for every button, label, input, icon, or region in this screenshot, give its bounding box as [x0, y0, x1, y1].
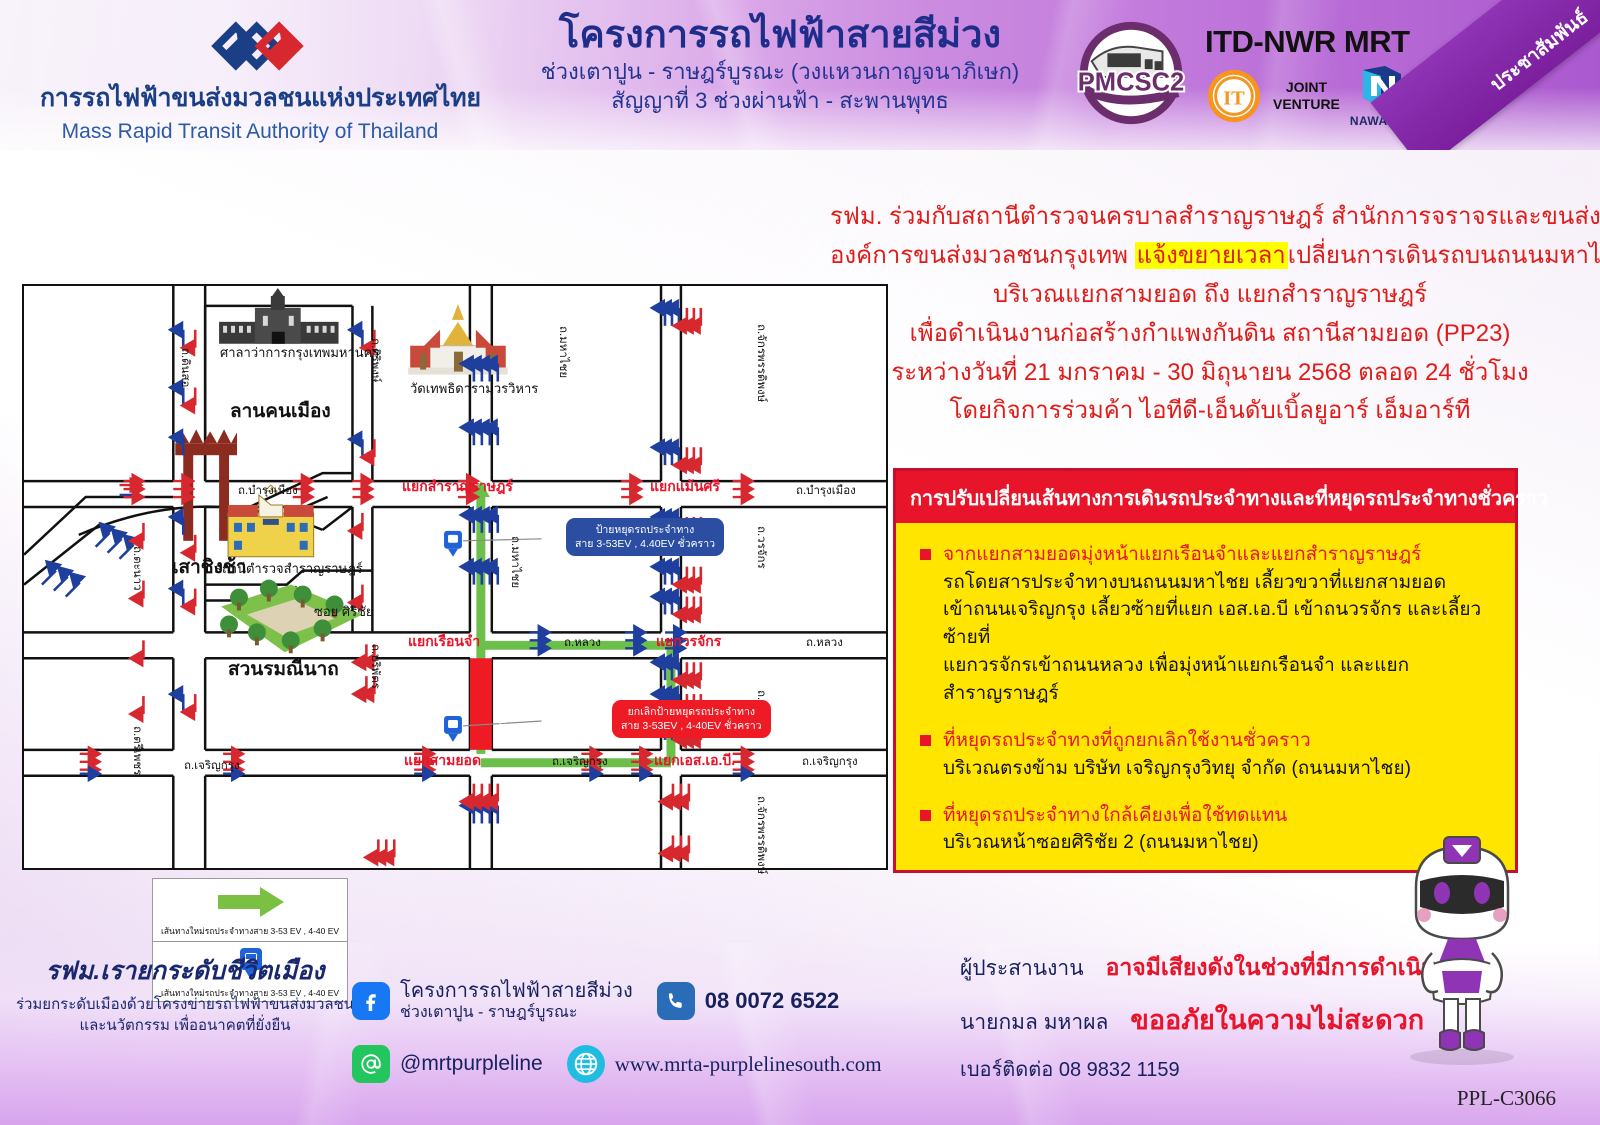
mrta-name-english: Mass Rapid Transit Authority of Thailand [40, 120, 460, 144]
notice-item-sub: บริเวณหน้าซอยศิริชัย 2 (ถนนมหาไชย) [943, 829, 1287, 857]
map-road-mahachai-closed: ถ.มหาไชย [494, 676, 512, 728]
map-junction-worachak: แยกวรจักร [656, 631, 721, 653]
mascot-icon [1396, 835, 1528, 1065]
line-id: @mrtpurpleline [400, 1052, 543, 1076]
square-bullet-icon [920, 735, 931, 746]
map-road-worachak: ถ.วรจักร [752, 526, 770, 569]
facebook-page-sub: ช่วงเตาปูน - ราษฎร์บูรณะ [400, 1003, 633, 1023]
map-junction-samyot: แยกสามยอด [404, 750, 481, 772]
bus-stop-pin-icon [444, 531, 462, 557]
notice-item-head: ที่หยุดรถประจำทางที่ถูกยกเลิกใช้งานชั่วค… [943, 727, 1411, 755]
map-road-bamrungmueang: ถ.บำรุงเมือง [796, 482, 856, 500]
map-road-bamrungmueang: ถ.บำรุงเมือง [238, 482, 298, 500]
notice-item: ที่หยุดรถประจำทางที่ถูกยกเลิกใช้งานชั่วค… [920, 727, 1495, 782]
slogan-main: รฟม.เรายกระดับชีวิตเมือง [10, 951, 360, 991]
map-road-charoenkrung: ถ.เจริญกรุง [184, 757, 240, 775]
announcement-line-3: บริเวณแยกสามยอด ถึง แยกสำราญราษฎร์ [830, 276, 1590, 315]
notice-item-head: ที่หยุดรถประจำทางใกล้เคียงเพื่อใช้ทดแทน [943, 802, 1287, 830]
line-web-contact-row[interactable]: @mrtpurpleline www.mrta-purplelinesouth.… [352, 1045, 972, 1083]
page-title: โครงการรถไฟฟ้าสายสีม่วง [460, 14, 1100, 57]
notice-item-head: จากแยกสามยอดมุ่งหน้าแยกเรือนจำและแยกสำรา… [943, 541, 1495, 569]
title-subtitle-1: ช่วงเตาปูน - ราษฎร์บูรณะ (วงแหวนกาญจนาภิ… [460, 57, 1100, 87]
notice-item-sub: แยกวรจักรเข้าถนนหลวง เพื่อมุ่งหน้าแยกเรื… [943, 652, 1495, 708]
notice-item-sub: บริเวณตรงข้าม บริษัท เจริญกรุงวิทยุ จำกั… [943, 755, 1411, 783]
announcement-line-2: องค์การขนส่งมวลชนกรุงเทพ แจ้งขยายเวลาเปล… [830, 237, 1590, 276]
website-url: www.mrta-purplelinesouth.com [615, 1052, 882, 1077]
facebook-icon[interactable] [352, 982, 390, 1020]
slogan-sub-line-2: และนวัตกรรม เพื่ออนาคตที่ยั่งยืน [10, 1015, 360, 1037]
traffic-map: ศาลาว่าการกรุงเทพมหานคร ลานคนเมือง วัดเท… [22, 284, 888, 870]
square-bullet-icon [920, 549, 931, 560]
map-road-charoenkrung: ถ.เจริญกรุง [802, 753, 858, 771]
itd-logo-icon: IT [1205, 67, 1263, 125]
map-road-chakkraphatdiphong: ถ.จักรพรรดิพงษ์ [752, 796, 770, 874]
phone-number: 08 0072 6522 [705, 988, 840, 1014]
callout-line-2: สาย 3-53EV , 4.40EV ชั่วคราว [575, 537, 715, 551]
announcement-line-5: ระหว่างวันที่ 21 มกราคม - 30 มิถุนายน 25… [830, 354, 1590, 393]
map-label-lan-khon-mueang: ลานคนเมือง [230, 396, 331, 426]
coordinator-label: ผู้ประสานงาน [960, 952, 1084, 985]
jv-word-joint: JOINT [1273, 79, 1340, 97]
slogan-block: รฟม.เรายกระดับชีวิตเมือง ร่วมยกระดับเมือ… [10, 951, 360, 1038]
callout-line-2: สาย 3-53EV , 4-40EV ชั่วคราว [621, 719, 762, 733]
announcement-line-4: เพื่อดำเนินงานก่อสร้างกำแพงกันดิน สถานีส… [830, 315, 1590, 354]
pr-ribbon: ประชาสัมพันธ์ [1371, 0, 1600, 150]
square-bullet-icon [920, 810, 931, 821]
title-subtitle-2: สัญญาที่ 3 ช่วงผ่านฟ้า - สะพานพุทธ [460, 86, 1100, 116]
map-road-mahachai: ถ.มหาไชย [506, 536, 524, 588]
map-label-park: สวนรมณีนาถ [228, 654, 339, 684]
announcement-highlight: แจ้งขยายเวลา [1135, 242, 1288, 269]
announcement-text: รฟม. ร่วมกับสถานีตำรวจนครบาลสำราญราษฎร์ … [830, 198, 1590, 431]
phone-icon[interactable] [657, 982, 695, 1020]
at-icon[interactable] [352, 1045, 390, 1083]
facebook-contact-row[interactable]: โครงการรถไฟฟ้าสายสีม่วง ช่วงเตาปูน - ราษ… [352, 979, 972, 1023]
apology-text: ขออภัยในความไม่สะดวก [1130, 998, 1424, 1041]
legend-label-route: เส้นทางใหม่รถประจำทางสาย 3-53 EV , 4-40 … [153, 924, 347, 938]
map-road-mahachai: ถ.มหาไชย [554, 326, 572, 378]
map-road-tri-phet: ถ.ตรีเพชร [128, 726, 146, 775]
map-label-city-hall: ศาลาว่าการกรุงเทพมหานคร [220, 342, 379, 363]
callout-cancelled-bus-stop: ยกเลิกป้ายหยุดรถประจำทาง สาย 3-53EV , 4-… [612, 700, 771, 738]
jv-title: ITD-NWR MRT [1205, 24, 1465, 60]
notice-item: จากแยกสามยอดมุ่งหน้าแยกเรือนจำและแยกสำรา… [920, 541, 1495, 708]
facebook-page-name: โครงการรถไฟฟ้าสายสีม่วง [400, 979, 633, 1003]
map-road-dinso: ถ.ดินสอ [176, 348, 194, 387]
green-arrow-icon [216, 885, 286, 919]
header-band: การรถไฟฟ้าขนส่งมวลชนแห่งประเทศไทย Mass R… [0, 0, 1600, 150]
mrta-logo-block: การรถไฟฟ้าขนส่งมวลชนแห่งประเทศไทย Mass R… [40, 20, 460, 144]
map-road-boriphat: ถ.บริพัตร [366, 644, 384, 689]
slogan-sub: ร่วมยกระดับเมืองด้วยโครงข่ายรถไฟฟ้าขนส่ง… [10, 994, 360, 1038]
title-block: โครงการรถไฟฟ้าสายสีม่วง ช่วงเตาปูน - ราษ… [460, 14, 1100, 116]
callout-temp-bus-stop: ป้ายหยุดรถประจำทาง สาย 3-53EV , 4.40EV ช… [566, 518, 724, 556]
map-label-soi-sirichai: ซอย ศิริชัย [314, 601, 374, 622]
globe-icon[interactable] [567, 1045, 605, 1083]
notice-box: การปรับเปลี่ยนเส้นทางการเดินรถประจำทางแล… [893, 468, 1518, 873]
announcement-line-1: รฟม. ร่วมกับสถานีตำรวจนครบาลสำราญราษฎร์ … [830, 198, 1590, 237]
mrta-name-thai: การรถไฟฟ้าขนส่งมวลชนแห่งประเทศไทย [40, 78, 460, 118]
map-junction-ruenjam: แยกเรือนจำ [408, 631, 480, 653]
notice-header: การปรับเปลี่ยนเส้นทางการเดินรถประจำทางแล… [896, 471, 1515, 523]
city-hall-icon [219, 288, 338, 344]
map-road-siriphong: ถ.ศิริพงษ์ [366, 338, 384, 382]
map-junction-samranrat: แยกสำราญราษฎร์ [402, 476, 513, 498]
map-road-charoenkrung: ถ.เจริญกรุง [552, 753, 608, 771]
mrta-logo-icon [163, 20, 336, 72]
map-label-police-station: สถานีตำรวจสำราญราษฎร์ [214, 558, 363, 579]
map-road-tanao: ถ.ตะนาว [128, 546, 146, 591]
itd-label: IT [1223, 88, 1245, 110]
map-road-luang: ถ.หลวง [564, 634, 601, 652]
callout-line-1: ป้ายหยุดรถประจำทาง [575, 523, 715, 537]
notice-item-sub: รถโดยสารประจำทางบนถนนมหาไชย เลี้ยวขวาที่… [943, 569, 1495, 597]
pmcsc2-logo-icon: PMCSC2 [1072, 14, 1190, 132]
map-label-temple: วัดเทพธิดารามวรวิหาร [410, 378, 538, 399]
announcement-line-2a: องค์การขนส่งมวลชนกรุงเทพ [830, 242, 1135, 269]
svg-text:PMCSC2: PMCSC2 [1078, 69, 1184, 97]
slogan-sub-line-1: ร่วมยกระดับเมืองด้วยโครงข่ายรถไฟฟ้าขนส่ง… [10, 994, 360, 1016]
document-code: PPL-C3066 [1457, 1086, 1556, 1111]
map-junction-sab: แยกเอส.เอ.บี. [654, 750, 735, 772]
announcement-line-6: โดยกิจการร่วมค้า ไอทีดี-เอ็นดับเบิ้ลยูอา… [830, 392, 1590, 431]
legend-row-route: เส้นทางใหม่รถประจำทางสาย 3-53 EV , 4-40 … [153, 879, 347, 941]
contact-block: โครงการรถไฟฟ้าสายสีม่วง ช่วงเตาปูน - ราษ… [352, 979, 972, 1083]
pr-ribbon-label: ประชาสัมพันธ์ [1484, 3, 1595, 99]
bus-stop-pin-icon [444, 716, 462, 742]
notice-body: จากแยกสามยอดมุ่งหน้าแยกเรือนจำและแยกสำรา… [896, 523, 1515, 857]
jv-words: JOINT VENTURE [1273, 79, 1340, 114]
notice-item-sub: เข้าถนนเจริญกรุง เลี้ยวซ้ายที่แยก เอส.เอ… [943, 596, 1495, 652]
map-road-chakkraphatdiphong: ถ.จักรพรรดิพงษ์ [752, 324, 770, 402]
announcement-line-2b: เปลี่ยนการเดินรถบนถนนมหาไชย [1288, 242, 1600, 269]
map-road-luang: ถ.หลวง [806, 634, 843, 652]
jv-word-venture: VENTURE [1273, 96, 1340, 114]
callout-line-1: ยกเลิกป้ายหยุดรถประจำทาง [621, 705, 762, 719]
coordinator-name: นายกมล มหาผล [960, 1006, 1108, 1039]
map-junction-maensri: แยกแม้นศรี [650, 476, 720, 498]
